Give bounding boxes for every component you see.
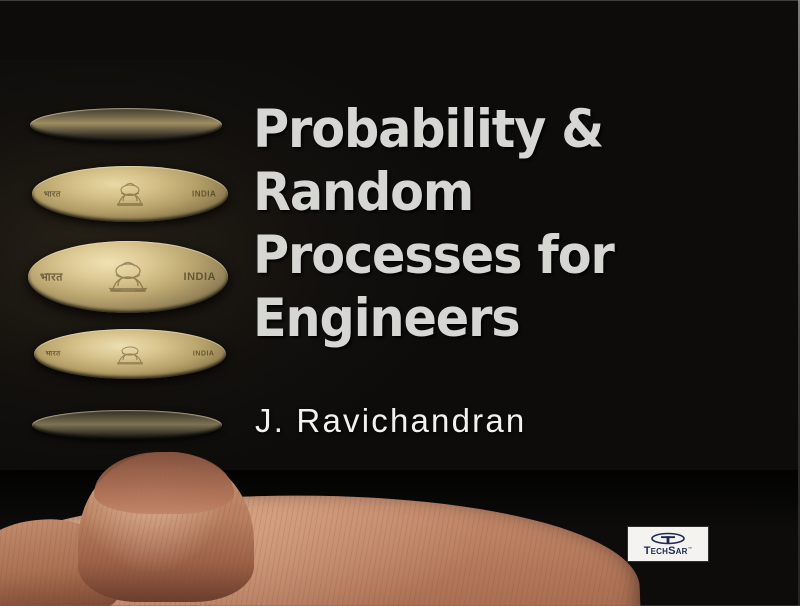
coin-4: भारत INDIA (34, 329, 226, 379)
index-finger (0, 513, 124, 606)
thumb (78, 452, 254, 602)
coin-legend-left: भारत (44, 189, 61, 200)
title-line-4: Engineers (253, 287, 737, 350)
coin-1 (30, 108, 222, 142)
coin-legend-left: भारत (40, 270, 63, 285)
title-line-2: Random (253, 161, 737, 224)
publisher-name: TechSar (644, 546, 688, 557)
coin-legend-right: INDIA (192, 190, 216, 199)
ellipse-t-logo-icon (651, 532, 685, 545)
trademark-symbol: ™ (688, 546, 692, 551)
thumbnail (94, 452, 234, 514)
skin-creases (0, 513, 124, 606)
coin-rim (30, 108, 222, 142)
publisher-logo: TechSar ™ (628, 527, 708, 561)
palm (0, 481, 644, 606)
skin-creases (78, 452, 254, 602)
coin-legend-right: INDIA (184, 271, 216, 283)
author-name: J. Ravichandran (255, 402, 526, 440)
coin-2: भारत INDIA (32, 166, 228, 222)
coin-legend-left: भारत (46, 350, 61, 359)
book-cover: भारत INDIA भार (0, 0, 800, 606)
title-line-1: Probability & (253, 98, 737, 161)
coin-rim (32, 410, 222, 440)
coin-3: भारत INDIA (28, 241, 228, 313)
skin-creases (0, 481, 644, 606)
coin-legend-right: INDIA (193, 351, 215, 358)
coin-5 (32, 410, 222, 440)
publisher-wordmark: TechSar ™ (644, 546, 693, 557)
page-edge-top (0, 0, 800, 1)
hand-shadow (0, 470, 800, 530)
title-line-3: Processes for (253, 224, 737, 287)
book-title: Probability & Random Processes for Engin… (253, 98, 773, 350)
